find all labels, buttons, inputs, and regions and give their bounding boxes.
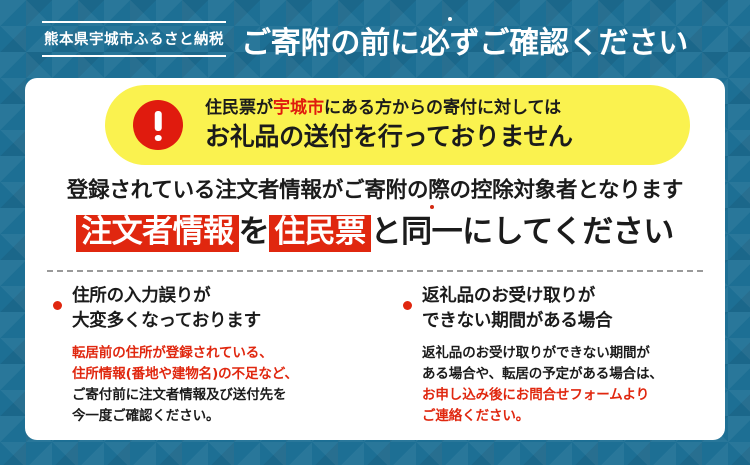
notice-heading-right-text: 返礼品のお受け取りが できない期間がある場合 (422, 284, 612, 334)
notice-body-left-line2: 住所情報(番地や建物名)の不足など、 (72, 364, 363, 385)
headline-part1: ご寄附の前に (241, 26, 420, 61)
statement-connector-1: を (239, 214, 270, 250)
notice-heading-right-line2: できない期間がある場合 (422, 311, 612, 331)
content-card: 住民票が宇城市にある方からの寄付に対しては お礼品の送付を行っておりません 登録… (25, 78, 725, 440)
statement-connector-2: と (371, 214, 402, 250)
alert-banner: 住民票が宇城市にある方からの寄付に対しては お礼品の送付を行っておりません (105, 85, 690, 165)
exclamation-dot (155, 135, 162, 142)
statement-tail: にしてください (462, 214, 674, 250)
alert-line-1: 住民票が宇城市にある方からの寄付に対しては (205, 98, 573, 119)
notice-body-left-line3: ご寄付前に注文者情報及び送付先を (72, 385, 363, 406)
bullet-icon (403, 301, 412, 310)
notice-heading-left: 住所の入力誤りが 大変多くなっております (53, 284, 363, 334)
exclamation-circle-icon (133, 100, 183, 150)
exclamation-stem (155, 111, 162, 131)
notice-column-right: 返礼品のお受け取りが できない期間がある場合 返礼品のお受け取りができない期間が… (375, 284, 725, 427)
notice-body-right-line4: ご連絡ください。 (422, 406, 713, 427)
notice-heading-right: 返礼品のお受け取りが できない期間がある場合 (403, 284, 713, 334)
headline-part2: ご確認ください (479, 26, 688, 61)
notice-body-right: 返礼品のお受け取りができない期間が ある場合や、転居の予定がある場合は、 お申し… (422, 343, 713, 427)
notice-heading-left-text: 住所の入力誤りが 大変多くなっております (72, 284, 261, 334)
bullet-icon (53, 301, 62, 310)
notice-body-left-line4: 今一度ご確認ください。 (72, 406, 363, 427)
alert-line1-post: にある方からの寄付に対しては (324, 98, 561, 118)
notice-body-left-line1: 転居前の住所が登録されている、 (72, 343, 363, 364)
notice-heading-left-line1: 住所の入力誤りが (72, 286, 210, 306)
notice-heading-right-line1: 返礼品のお受け取りが (422, 286, 595, 306)
alert-line-2: お礼品の送付を行っておりません (205, 122, 573, 152)
brand-rule-bottom (42, 55, 226, 57)
notice-body-left: 転居前の住所が登録されている、 住所情報(番地や建物名)の不足など、 ご寄付前に… (72, 343, 363, 427)
notice-column-left: 住所の入力誤りが 大変多くなっております 転居前の住所が登録されている、 住所情… (25, 284, 375, 427)
notice-body-right-line2: ある場合や、転居の予定がある場合は、 (422, 364, 713, 385)
statement-line-2: 注文者情報を住民票と同一にしてください (25, 206, 725, 252)
brand-block: 熊本県宇城市ふるさと納税 (42, 21, 226, 57)
notice-heading-left-line2: 大変多くなっております (72, 311, 261, 331)
alert-line1-highlight: 宇城市 (273, 98, 324, 118)
chip-orderer-info: 注文者情報 (76, 215, 239, 252)
alert-text-block: 住民票が宇城市にある方からの寄付に対しては お礼品の送付を行っておりません (205, 98, 573, 151)
notice-body-right-line1: 返礼品のお受け取りができない期間が (422, 343, 713, 364)
statement-line-1: 登録されている注文者情報がご寄附の際の控除対象者となります (25, 173, 725, 204)
headline-emphasis: 必ず (420, 26, 480, 61)
brand-name: 熊本県宇城市ふるさと納税 (42, 23, 226, 55)
notice-body-right-line3: お申し込み後にお問合せフォームより (422, 385, 713, 406)
notice-columns: 住所の入力誤りが 大変多くなっております 転居前の住所が登録されている、 住所情… (25, 284, 725, 427)
alert-line1-pre: 住民票が (205, 98, 273, 118)
section-divider (47, 270, 703, 272)
banner-header: 熊本県宇城市ふるさと納税 ご寄附の前に必ずご確認ください (0, 0, 750, 78)
chip-residence-certificate: 住民票 (269, 215, 371, 252)
statement-emphasis: 同一 (401, 214, 462, 250)
page-title: ご寄附の前に必ずご確認ください (241, 18, 688, 62)
